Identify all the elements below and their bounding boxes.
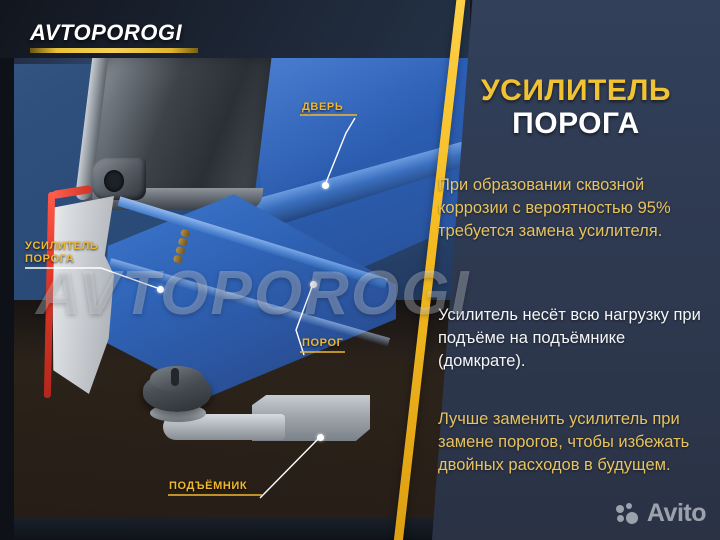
callout-lift: ПОДЪЁМНИК <box>169 480 247 493</box>
paragraph-corrosion: При образовании сквозной коррозии с веро… <box>438 174 712 243</box>
paragraph-advice: Лучше заменить усилитель при замене поро… <box>438 408 712 477</box>
leader-dot-lift <box>317 434 324 441</box>
leader-dot-sill <box>310 281 317 288</box>
callout-door: ДВЕРЬ <box>302 101 343 114</box>
title-line-1: УСИЛИТЕЛЬ <box>440 74 712 107</box>
avito-label: Avito <box>647 499 706 528</box>
callout-reinforcement: УСИЛИТЕЛЬ ПОРОГА <box>25 240 98 266</box>
logo-text: AVTOPOROGI <box>30 20 198 46</box>
jack-pad-slot <box>171 368 179 386</box>
diagram-panel <box>0 0 470 540</box>
hinge-pin-hole <box>104 170 124 192</box>
brand-logo: AVTOPOROGI <box>30 20 198 53</box>
page-title: УСИЛИТЕЛЬ ПОРОГА <box>440 74 712 140</box>
avito-logo-icon <box>616 503 642 525</box>
frame-left-border <box>0 0 14 540</box>
callout-sill: ПОРОГ <box>302 337 343 350</box>
leader-dot-reinforcement <box>157 286 164 293</box>
title-line-2: ПОРОГА <box>440 107 712 140</box>
promo-image: ДВЕРЬ УСИЛИТЕЛЬ ПОРОГА ПОРОГ ПОДЪЁМНИК У… <box>0 0 720 540</box>
leader-dot-door <box>322 182 329 189</box>
logo-underline-bar <box>30 48 198 53</box>
avito-watermark: Avito <box>616 499 706 528</box>
paragraph-load: Усилитель несёт всю нагрузку при подъёме… <box>438 304 712 373</box>
